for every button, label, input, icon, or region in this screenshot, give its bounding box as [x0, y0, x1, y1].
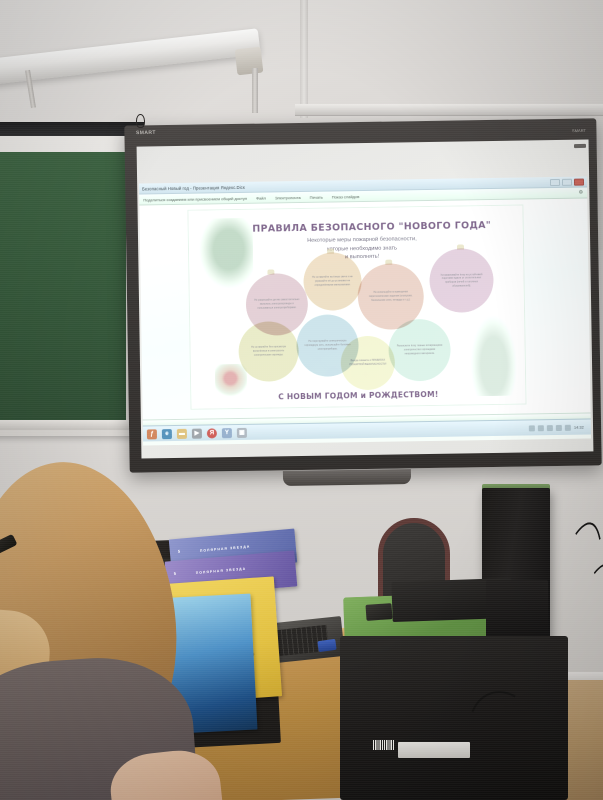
board-hook	[136, 114, 145, 128]
menu-item-file[interactable]: Файл	[256, 195, 266, 200]
chalk-tray	[0, 420, 144, 430]
printer-spec-label	[398, 742, 470, 758]
ornament-2: Не оставляйте на ёлках свечи и не украша…	[303, 252, 362, 311]
menu-item-email[interactable]: Электропочта	[275, 194, 301, 199]
smartboard-brand-logo-right: SMART	[572, 128, 586, 133]
smartboard-status-led	[574, 144, 586, 148]
clock[interactable]: 14:32	[574, 425, 584, 430]
wall-ledge	[295, 104, 603, 116]
slide-title: ПРАВИЛА БЕЗОПАСНОГО "НОВОГО ГОДА"	[227, 220, 517, 236]
slide-viewer[interactable]: ПРАВИЛА БЕЗОПАСНОГО "НОВОГО ГОДА" Некото…	[139, 198, 590, 419]
edge-icon[interactable]: e	[162, 429, 172, 439]
app-icon[interactable]: ▣	[237, 427, 247, 437]
menu-item-print[interactable]: Печать	[310, 194, 323, 199]
ornament-5: Не оставляйте без присмотра включённые в…	[238, 321, 299, 382]
presentation-slide: ПРАВИЛА БЕЗОПАСНОГО "НОВОГО ГОДА" Некото…	[187, 204, 526, 409]
tray-icon-4[interactable]	[556, 424, 562, 430]
tray-icon-1[interactable]	[529, 425, 535, 431]
textbook-upper-title: ПОЛЯРНАЯ ЗВЕЗДА	[200, 544, 251, 552]
green-chalkboard	[0, 152, 126, 420]
light-end-cap	[235, 47, 264, 76]
printer-barcode-label	[372, 740, 394, 750]
projected-desktop[interactable]: Безопасный Новый год - Презентация Яндек…	[139, 176, 591, 445]
yandex-icon[interactable]: Я	[207, 428, 217, 438]
printer-power-adapter	[365, 603, 392, 621]
window-title: Безопасный Новый год - Презентация Яндек…	[142, 184, 245, 191]
media-icon[interactable]: ▶	[192, 428, 202, 438]
wall-seam	[300, 0, 308, 118]
menu-item-slideshow[interactable]: Показ слайдов	[332, 194, 360, 199]
window-controls[interactable]	[550, 178, 584, 186]
textbook-upper-grade: 5	[178, 549, 181, 554]
ornament-4: Устанавливайте ёлку на устойчивой подста…	[429, 248, 494, 313]
gear-icon[interactable]: ⚙	[579, 190, 584, 196]
account-share-label[interactable]: Поделиться созданием или присвоением общ…	[143, 195, 247, 202]
tray-icon-2[interactable]	[538, 425, 544, 431]
system-tray[interactable]: 14:32	[529, 424, 587, 431]
firefox-icon[interactable]: ƒ	[147, 429, 157, 439]
light-support-rod	[252, 68, 258, 113]
smartboard-brand-logo: SMART	[136, 130, 156, 136]
textbook-lower-title: ПОЛЯРНАЯ ЗВЕЗДА	[196, 567, 247, 575]
tray-icon-3[interactable]	[547, 425, 553, 431]
textbook-lower-grade: 5	[174, 571, 177, 576]
yandex-disk-icon[interactable]: Y	[222, 428, 232, 438]
smartboard-pen-tray[interactable]	[283, 469, 411, 486]
christmas-tree-decor	[470, 316, 517, 397]
minimize-button[interactable]	[550, 178, 560, 185]
maximize-button[interactable]	[562, 178, 572, 185]
close-button[interactable]	[574, 178, 584, 185]
tray-icon-5[interactable]	[565, 424, 571, 430]
ornament-7: Разъясните ёлку тканью испаряющими элект…	[388, 319, 451, 382]
folder-icon[interactable]: ▬	[177, 428, 187, 438]
classroom-photo-scene: SMART SMART Безопасный Новый год - Презе…	[0, 0, 603, 800]
ornament-8: Всегда помните о ПРАВИЛАХ ПОЖАРНОЙ БЕЗОП…	[340, 336, 395, 391]
